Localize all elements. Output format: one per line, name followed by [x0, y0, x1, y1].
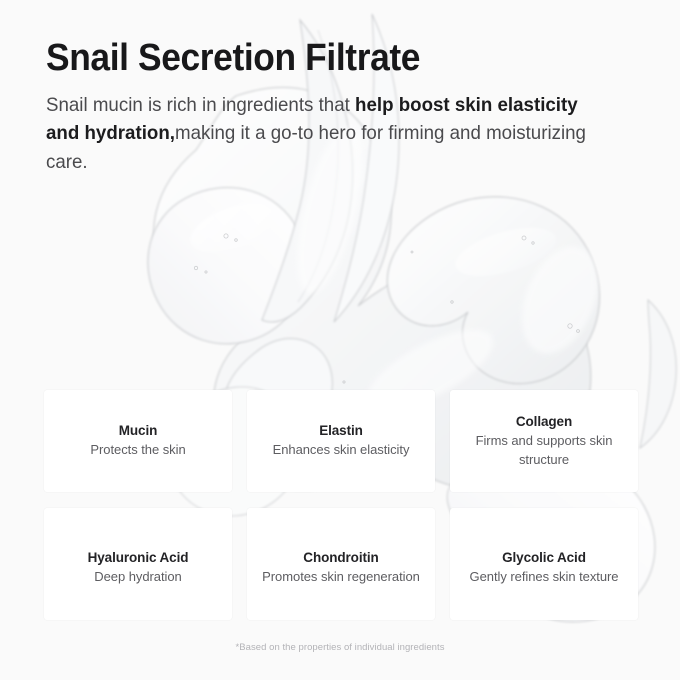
ingredient-name: Glycolic Acid	[502, 549, 586, 567]
footnote-disclaimer: *Based on the properties of individual i…	[0, 642, 680, 653]
ingredient-card-elastin[interactable]: Elastin Enhances skin elasticity	[247, 390, 435, 492]
ingredient-name: Hyaluronic Acid	[88, 549, 189, 567]
header-block: Snail Secretion Filtrate Snail mucin is …	[46, 38, 634, 176]
ingredient-card-mucin[interactable]: Mucin Protects the skin	[44, 390, 232, 492]
ingredient-description: Deep hydration	[94, 568, 181, 586]
ingredient-description: Protects the skin	[90, 441, 185, 459]
ingredient-description: Enhances skin elasticity	[273, 441, 410, 459]
ingredient-card-glycolic-acid[interactable]: Glycolic Acid Gently refines skin textur…	[450, 508, 638, 620]
infographic-page: Snail Secretion Filtrate Snail mucin is …	[0, 0, 680, 680]
page-title: Snail Secretion Filtrate	[46, 38, 593, 79]
page-subtitle: Snail mucin is rich in ingredients that …	[46, 91, 610, 176]
ingredient-name: Elastin	[319, 422, 363, 440]
ingredient-card-collagen[interactable]: Collagen Firms and supports skin structu…	[450, 390, 638, 492]
ingredient-card-grid: Mucin Protects the skin Elastin Enhances…	[44, 390, 638, 620]
ingredient-description: Promotes skin regeneration	[262, 568, 420, 586]
ingredient-name: Mucin	[119, 422, 158, 440]
ingredient-description: Firms and supports skin structure	[460, 432, 628, 469]
ingredient-description: Gently refines skin texture	[470, 568, 619, 586]
ingredient-name: Chondroitin	[303, 549, 378, 567]
ingredient-card-chondroitin[interactable]: Chondroitin Promotes skin regeneration	[247, 508, 435, 620]
ingredient-name: Collagen	[516, 413, 572, 431]
subtitle-part-1: Snail mucin is rich in ingredients that	[46, 94, 355, 116]
ingredient-card-hyaluronic-acid[interactable]: Hyaluronic Acid Deep hydration	[44, 508, 232, 620]
